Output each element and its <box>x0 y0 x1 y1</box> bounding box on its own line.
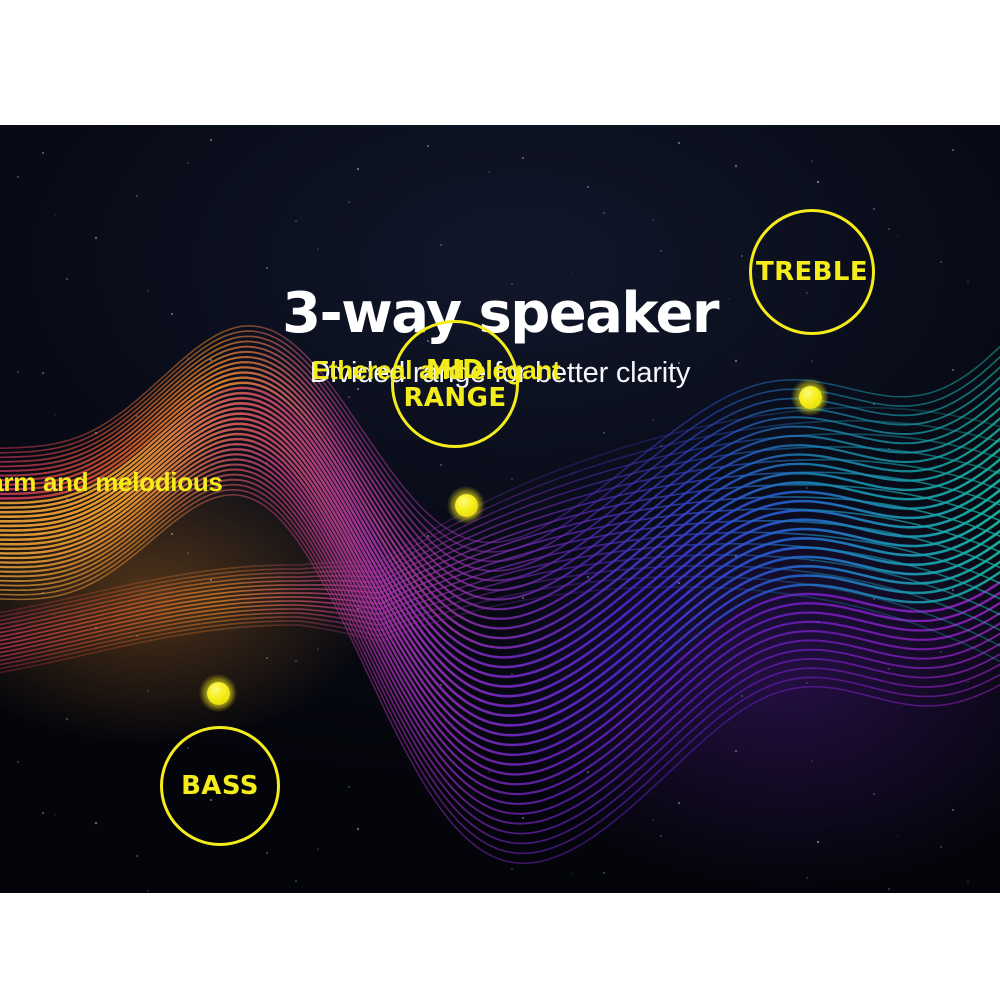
poster-canvas: 3-way speaker Divided range for better c… <box>0 0 1000 1000</box>
badge-bass[interactable]: BASS <box>160 726 280 846</box>
wave-marker-treble[interactable] <box>791 378 829 416</box>
badge-label-bass: BASS <box>181 772 259 800</box>
badge-treble[interactable]: TREBLE <box>749 209 875 335</box>
badge-label-mid-range: MID RANGE <box>403 356 506 412</box>
badge-mid-range[interactable]: MID RANGE <box>391 320 519 448</box>
badge-label-treble: TREBLE <box>756 258 868 286</box>
wave-marker-bass[interactable] <box>199 674 237 712</box>
starfield-panel: 3-way speaker Divided range for better c… <box>0 125 1000 893</box>
badge-caption-mid-range: Warm and melodious <box>0 469 223 495</box>
wave-marker-mid-range[interactable] <box>447 486 485 524</box>
